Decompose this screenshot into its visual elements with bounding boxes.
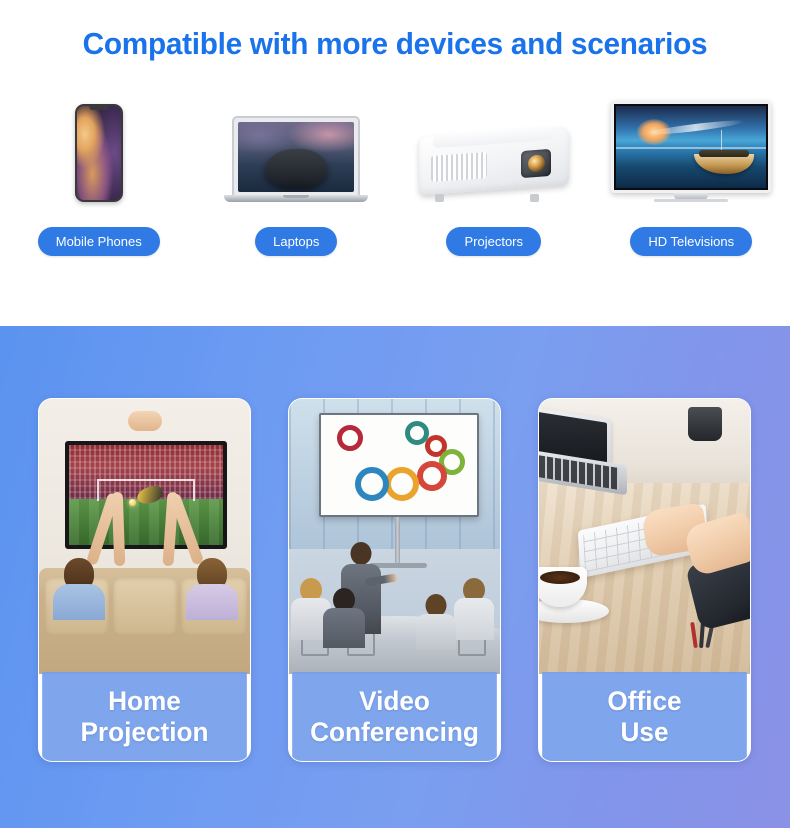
laptop-base <box>224 195 368 202</box>
device-image-laptops <box>224 82 368 202</box>
scene-card-list: Home Projection <box>38 398 752 762</box>
photo-attendee <box>323 588 365 648</box>
scene-card-home-projection[interactable]: Home Projection <box>38 398 251 762</box>
photo-person-body <box>186 584 238 620</box>
projector-vent-grille <box>431 152 487 182</box>
photo-screen-top-bar <box>319 413 479 414</box>
tv-scene-horizon <box>616 147 766 149</box>
scene-label-line1: Office <box>607 686 681 716</box>
photo-person-body <box>323 608 365 648</box>
page-title: Compatible with more devices and scenari… <box>16 26 774 62</box>
scene-label-line1: Home <box>108 686 181 716</box>
compatibility-section: Compatible with more devices and scenari… <box>0 0 790 326</box>
photo-attendee <box>416 594 456 650</box>
photo-soccer-ball <box>129 499 136 506</box>
projector-lens <box>521 149 551 178</box>
office-use-photo <box>539 399 750 674</box>
projector-foot-left <box>435 194 444 202</box>
photo-screen-stand-pole <box>395 517 400 565</box>
device-item-laptops: Laptops <box>198 82 396 262</box>
laptop-icon <box>224 116 368 202</box>
device-list: Mobile Phones Laptops <box>0 82 790 262</box>
photo-person-right <box>186 558 238 620</box>
scene-label-line2: Conferencing <box>310 717 479 747</box>
photo-timeline-ring <box>417 461 447 491</box>
photo-attendee <box>454 578 494 640</box>
laptop-wallpaper-island <box>265 149 327 187</box>
device-image-projectors <box>419 82 569 202</box>
device-image-hd-televisions <box>611 82 771 202</box>
scene-label-home-projection: Home Projection <box>42 672 247 761</box>
photo-person-body <box>454 598 494 640</box>
device-pill-mobile-phones[interactable]: Mobile Phones <box>38 227 160 256</box>
laptop-screen <box>238 122 354 192</box>
photo-timeline-ring <box>337 425 363 451</box>
photo-sofa-cushion <box>113 578 177 636</box>
photo-soccer-pitch <box>69 499 223 545</box>
photo-person-body <box>53 584 105 620</box>
device-item-projectors: Projectors <box>395 82 593 262</box>
scene-label-line2: Use <box>620 717 668 747</box>
scene-label-office-use: Office Use <box>542 672 747 761</box>
laptop-trackpad-notch <box>283 195 309 198</box>
device-item-hd-televisions: HD Televisions <box>593 82 790 262</box>
photo-person-head <box>351 542 372 565</box>
device-image-mobile-phones <box>75 82 123 202</box>
tv-base <box>654 199 728 202</box>
tv-screen <box>616 106 766 188</box>
use-cases-section: Home Projection <box>0 326 790 828</box>
phone-screen <box>77 106 121 200</box>
scene-card-video-conferencing[interactable]: Video Conferencing <box>288 398 501 762</box>
device-pill-projectors[interactable]: Projectors <box>446 227 541 256</box>
laptop-lid <box>232 116 360 195</box>
scene-label-video-conferencing: Video Conferencing <box>292 672 497 761</box>
device-pill-laptops[interactable]: Laptops <box>255 227 337 256</box>
photo-television <box>65 441 227 549</box>
tv-frame <box>611 101 771 193</box>
photo-person-left <box>53 558 105 620</box>
video-conferencing-photo <box>289 399 500 674</box>
tv-scene-boat <box>694 154 754 174</box>
smartphone-icon <box>75 104 123 202</box>
photo-timeline-ring <box>355 467 389 501</box>
scene-card-office-use[interactable]: Office Use <box>538 398 751 762</box>
photo-person-body <box>416 614 456 650</box>
photo-projection-screen <box>319 413 479 517</box>
scene-label-line2: Projection <box>80 717 208 747</box>
photo-clasped-hands <box>128 411 162 431</box>
device-item-mobile-phones: Mobile Phones <box>0 82 198 262</box>
photo-pen-holder <box>688 407 722 441</box>
device-pill-hd-televisions[interactable]: HD Televisions <box>630 227 752 256</box>
photo-timeline-ring <box>385 467 419 501</box>
television-icon <box>611 101 771 202</box>
phone-notch <box>89 106 108 110</box>
home-projection-photo <box>39 399 250 674</box>
photo-laptop <box>539 413 627 497</box>
projector-icon <box>419 124 569 202</box>
scene-label-line1: Video <box>359 686 430 716</box>
projector-foot-right <box>530 194 539 202</box>
